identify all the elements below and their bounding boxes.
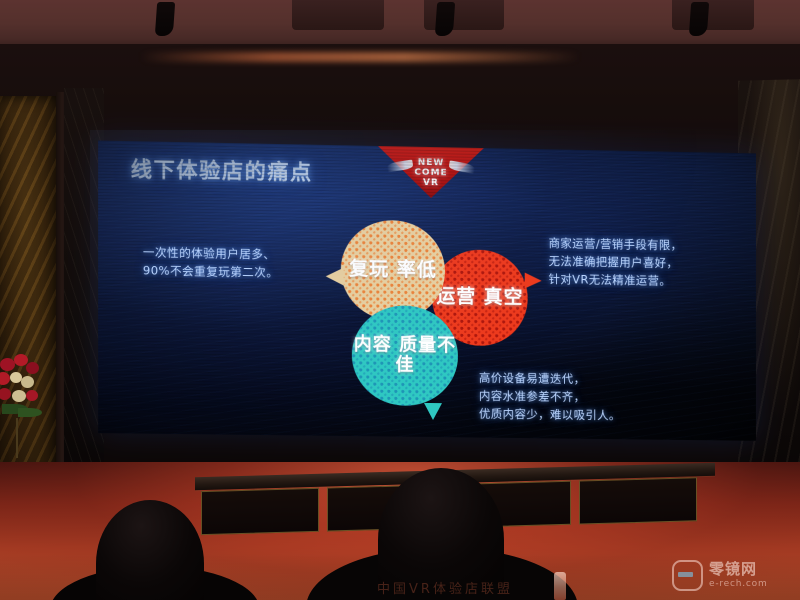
watermark-bar-shape — [678, 572, 693, 577]
bubble-label: 运营 真空 — [436, 286, 523, 309]
stage-table-panel — [201, 488, 319, 535]
note-right: 商家运营/营销手段有限， 无法准确把握用户喜好， 针对VR无法精准运营。 — [549, 235, 747, 291]
projection-screen: 线下体验店的痛点 NEW COME VR 复玩 率低 运营 真空 — [98, 140, 756, 440]
floor-highlight — [140, 52, 580, 62]
watermark-site-name: 零镜网 — [709, 562, 768, 577]
bubble-label: 复玩 率低 — [349, 259, 437, 282]
note-left: 一次性的体验用户居多、 90%不会重复玩第二次。 — [143, 244, 335, 283]
watermark-text: 零镜网 e-rech.com — [709, 562, 768, 589]
flower-arrangement — [0, 352, 66, 462]
bubble-tail-shape — [424, 403, 442, 420]
watermark-logo-icon — [672, 560, 703, 591]
page-title: 线下体验店的痛点 — [131, 153, 313, 187]
watermark-site-url: e-rech.com — [709, 580, 768, 589]
stage-table-panel — [579, 477, 697, 524]
watermark: 零镜网 e-rech.com — [672, 560, 768, 591]
logo-line-3: VR — [377, 178, 485, 189]
shirt-text: 中国VR体验店联盟 — [330, 578, 560, 597]
ceiling-alcove — [672, 0, 754, 30]
newcome-vr-logo: NEW COME VR — [377, 145, 485, 199]
bubble-content-quality: 内容 质量不佳 — [352, 305, 458, 407]
bubble-label: 内容 质量不佳 — [352, 335, 458, 377]
bubble-tail-shape — [525, 273, 542, 289]
ceiling-alcove — [292, 0, 384, 30]
slide-canvas: 线下体验店的痛点 NEW COME VR 复玩 率低 运营 真空 — [98, 140, 756, 440]
photo-scene: 线下体验店的痛点 NEW COME VR 复玩 率低 运营 真空 — [0, 0, 800, 600]
note-bottom: 高价设备易遭迭代， 内容水准参差不齐， 优质内容少，难以吸引人。 — [479, 370, 707, 426]
water-bottle — [554, 572, 566, 600]
